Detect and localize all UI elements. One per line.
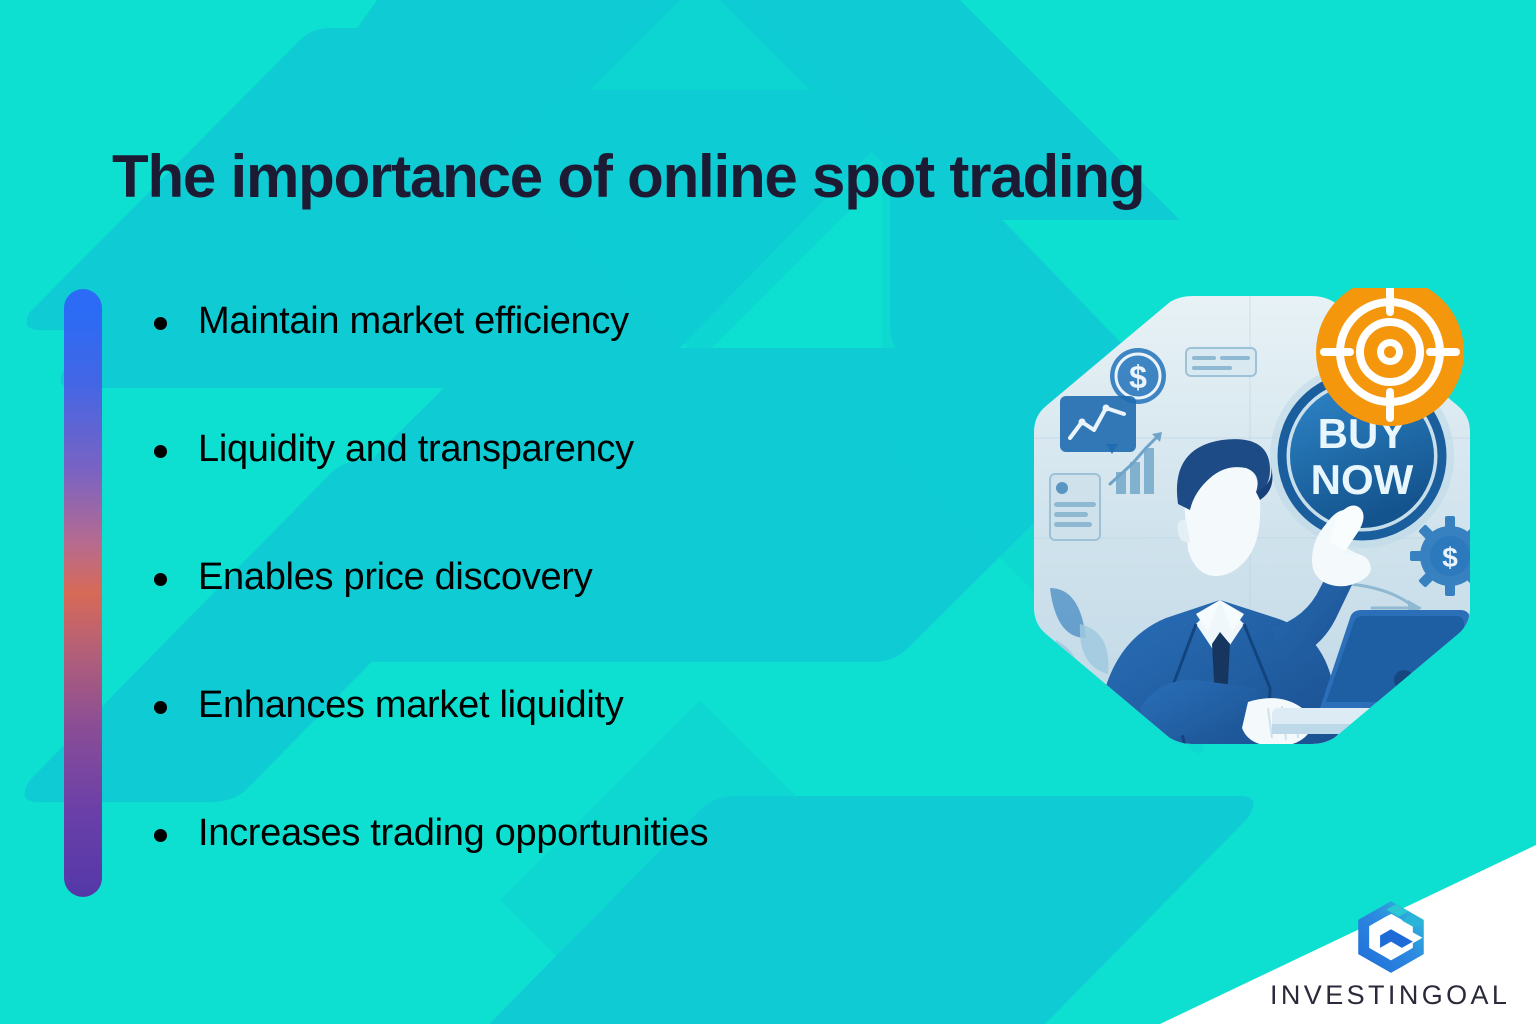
dollar-symbol: $ — [1129, 359, 1147, 395]
bullet-dot-icon — [154, 445, 167, 458]
investingoal-hexagon-logo — [1352, 898, 1430, 976]
brand-corner: INVESTINGOAL — [1120, 820, 1536, 1024]
list-item: Enhances market liquidity — [148, 684, 988, 812]
list-item-label: Increases trading opportunities — [198, 812, 708, 856]
list-item-label: Liquidity and transparency — [198, 428, 634, 472]
benefits-list: Maintain market efficiency Liquidity and… — [148, 300, 988, 940]
list-item: Increases trading opportunities — [148, 812, 988, 940]
svg-text:$: $ — [1442, 542, 1458, 573]
businessman-trading-illustration: $ — [1020, 288, 1484, 752]
list-item: Maintain market efficiency — [148, 300, 988, 428]
list-item: Enables price discovery — [148, 556, 988, 684]
buy-now-line2: NOW — [1311, 456, 1414, 503]
gradient-accent-bar — [64, 289, 102, 897]
bullet-dot-icon — [154, 317, 167, 330]
infographic-canvas: The importance of online spot trading Ma… — [0, 0, 1536, 1024]
list-item-label: Enhances market liquidity — [198, 684, 624, 728]
brand-wordmark: INVESTINGOAL — [1270, 980, 1510, 1011]
bullet-dot-icon — [154, 829, 167, 842]
list-item-label: Maintain market efficiency — [198, 300, 629, 344]
list-item-label: Enables price discovery — [198, 556, 592, 600]
bullet-dot-icon — [154, 701, 167, 714]
list-item: Liquidity and transparency — [148, 428, 988, 556]
bullet-dot-icon — [154, 573, 167, 586]
page-title: The importance of online spot trading — [112, 144, 1452, 210]
